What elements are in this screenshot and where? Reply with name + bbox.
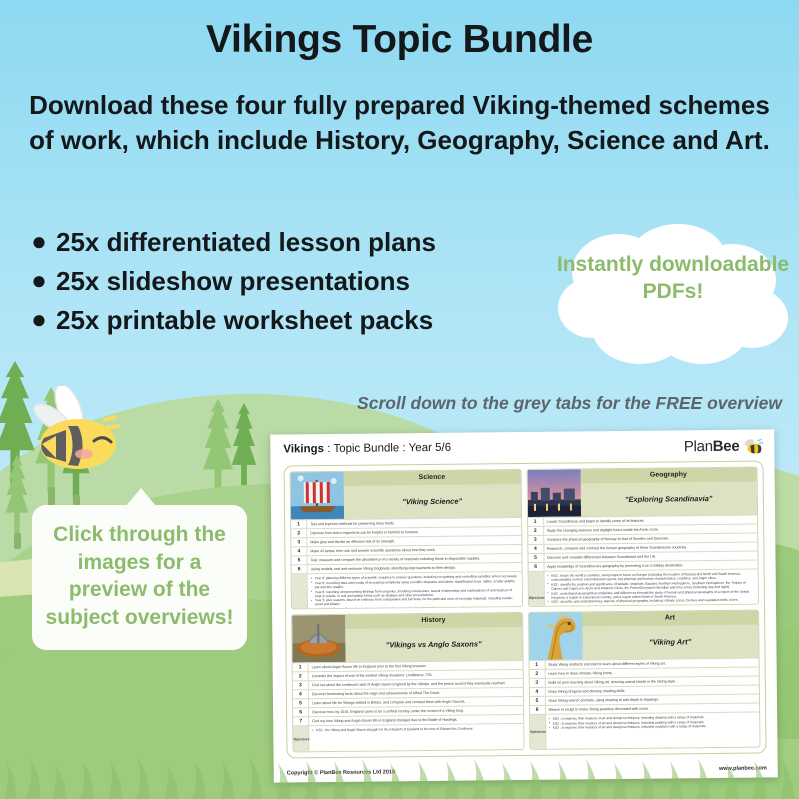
panel-scheme-title: "Exploring Scandinavia" (580, 482, 757, 517)
viking-dragon-prow-thumbnail[interactable] (529, 612, 582, 660)
logo-bee-icon (741, 438, 763, 455)
lesson-number: 4 (528, 545, 544, 553)
objective-item: KS2 : the Viking and Anglo-Saxon struggl… (312, 726, 520, 732)
lesson-number: 6 (293, 708, 309, 716)
lesson-number: 5 (529, 697, 545, 705)
panel-header: Science"Viking Science" (291, 470, 521, 519)
subject-panel-science[interactable]: Science"Viking Science"1Test and improve… (290, 469, 523, 609)
lesson-number: 5 (528, 554, 544, 562)
subject-overview-grid: Science"Viking Science"1Test and improve… (284, 460, 767, 758)
objectives-label: Objectives (528, 572, 545, 607)
objectives-list: KS2 : locate the world's countries, usin… (544, 570, 758, 607)
planbee-logo: PlanBee (684, 438, 764, 456)
panel-scheme-title: "Viking Science" (344, 484, 521, 519)
page-title: Vikings Topic Bundle (0, 18, 799, 62)
lesson-number: 3 (528, 536, 544, 544)
scandinavian-cityscape-thumbnail[interactable] (527, 469, 580, 517)
lesson-number: 2 (529, 670, 545, 678)
click-through-speech-bubble: Click through the images for a preview o… (32, 505, 247, 650)
viking-helmet-shield-thumbnail[interactable] (292, 615, 345, 663)
panel-header: Art"Viking Art" (529, 611, 759, 660)
cloud-badge-label: Instantly downloadable PDFs! (556, 252, 790, 306)
subject-panel-art[interactable]: Art"Viking Art"1Study Viking artefacts a… (528, 610, 761, 750)
subject-panel-history[interactable]: History"Vikings vs Anglo Saxons"1Learn a… (291, 612, 524, 752)
lesson-number: 2 (528, 527, 544, 535)
lesson-number: 6 (292, 565, 308, 573)
objectives-label: Objectives (292, 574, 309, 609)
lesson-number: 1 (529, 661, 545, 669)
lesson-number: 5 (293, 699, 309, 707)
panel-scheme-title: "Vikings vs Anglo Saxons" (345, 627, 522, 662)
panel-header-text: Geography"Exploring Scandinavia" (580, 468, 757, 517)
panel-header: History"Vikings vs Anglo Saxons" (292, 613, 522, 662)
panel-header: Geography"Exploring Scandinavia" (527, 468, 757, 517)
page-subtitle: Download these four fully prepared Vikin… (22, 88, 777, 157)
lesson-row-list: 1Learn about Anglo-Saxon life in England… (293, 660, 523, 751)
bullet-dot-icon: ● (22, 267, 56, 294)
objectives-list: KS2 : the Viking and Anglo-Saxon struggl… (309, 724, 523, 751)
lesson-number: 2 (291, 529, 307, 537)
scroll-down-note: Scroll down to the grey tabs for the FRE… (290, 393, 790, 414)
bullet-dot-icon: ● (22, 228, 56, 255)
objectives-label: Objectives (530, 715, 546, 749)
document-title: Vikings : Topic Bundle : Year 5/6 (283, 442, 451, 456)
document-title-rest: : Topic Bundle : Year 5/6 (324, 442, 451, 455)
lesson-number: 1 (291, 520, 307, 528)
objectives-row: ObjectivesKS2 : the Viking and Anglo-Sax… (293, 723, 523, 751)
bullet-dot-icon: ● (22, 306, 56, 333)
lesson-number: 2 (293, 672, 309, 680)
instant-download-cloud-badge: Instantly downloadable PDFs! (556, 222, 790, 377)
list-item-label: 25x differentiated lesson plans (56, 228, 436, 258)
poster-canvas: Vikings Topic Bundle Download these four… (0, 0, 799, 799)
bee-mascot-icon (22, 386, 142, 481)
list-item: ● 25x differentiated lesson plans (22, 228, 542, 258)
speech-bubble-label: Click through the images for a preview o… (46, 523, 234, 629)
list-item-label: 25x printable worksheet packs (56, 306, 433, 336)
list-item: ● 25x printable worksheet packs (22, 306, 542, 336)
lesson-number: 3 (291, 538, 307, 546)
objectives-label: Objectives (293, 726, 309, 751)
objective-item: KS2 : to improve their mastery of art an… (549, 724, 757, 730)
list-item: ● 25x slideshow presentations (22, 267, 542, 297)
panel-header-text: Art"Viking Art" (582, 611, 759, 660)
panel-header-text: History"Vikings vs Anglo Saxons" (345, 613, 522, 662)
lesson-number: 6 (528, 563, 544, 571)
objectives-row: ObjectivesKS2 : locate the world's count… (528, 569, 758, 607)
lesson-number: 4 (291, 547, 307, 555)
planbee-wordmark: PlanBee (684, 439, 740, 455)
logo-bee-text: Bee (713, 438, 740, 455)
lesson-row-list: 1Test and improve methods for preserving… (291, 517, 522, 609)
lesson-number: 4 (293, 690, 309, 698)
objective-item: KS2 : describe and understand key aspect… (547, 598, 755, 607)
lesson-number: 6 (530, 706, 546, 714)
lesson-number: 7 (293, 717, 309, 725)
subject-panel-geography[interactable]: Geography"Exploring Scandinavia"1Locate … (526, 467, 759, 607)
topic-bundle-document-preview[interactable]: Vikings : Topic Bundle : Year 5/6 PlanBe… (270, 429, 778, 782)
lesson-number: 4 (529, 688, 545, 696)
list-item-label: 25x slideshow presentations (56, 267, 410, 297)
panel-scheme-title: "Viking Art" (582, 625, 759, 660)
lesson-row-list: 1Study Viking artefacts and start to lea… (529, 658, 759, 749)
lesson-number: 1 (528, 518, 544, 526)
feature-bullet-list: ● 25x differentiated lesson plans ● 25x … (22, 228, 542, 345)
lesson-number: 5 (291, 556, 307, 564)
objectives-list: KS2 : to improve their mastery of art an… (546, 713, 760, 749)
viking-longship-thumbnail[interactable] (291, 472, 344, 520)
lesson-row-list: 1Locate Scandinavia and begin to identif… (528, 515, 759, 607)
lesson-number: 3 (293, 681, 309, 689)
document-title-bold: Vikings (283, 443, 324, 455)
lesson-number: 1 (293, 663, 309, 671)
panel-header-text: Science"Viking Science" (344, 470, 521, 519)
objectives-row: ObjectivesYear 6: planning different typ… (292, 571, 522, 609)
objectives-row: ObjectivesKS2 : to improve their mastery… (530, 712, 760, 749)
objectives-list: Year 6: planning different types of scie… (308, 572, 522, 609)
lesson-number: 3 (529, 679, 545, 687)
grass-blades-decoration (0, 753, 799, 799)
logo-plan-text: Plan (684, 438, 713, 455)
